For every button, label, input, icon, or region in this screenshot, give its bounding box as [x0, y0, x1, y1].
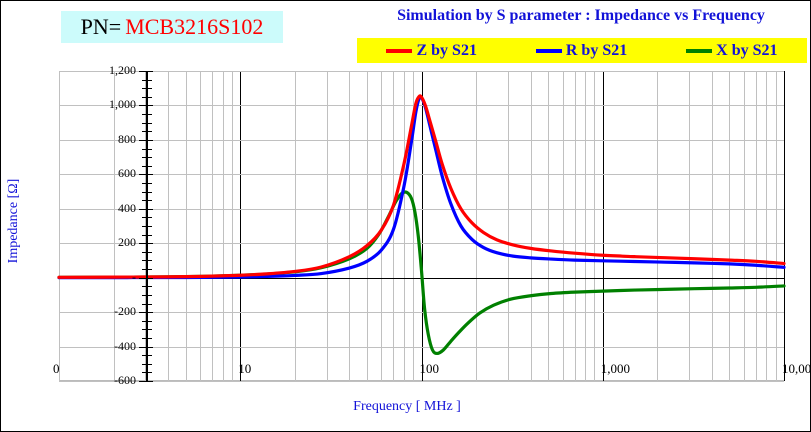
series-line-z [59, 96, 784, 277]
y-axis-title-text: Impedance [Ω] [3, 151, 25, 291]
y-tick-mark [142, 97, 152, 98]
y-tick-label: 800 [76, 132, 136, 147]
series-line-x [59, 192, 784, 354]
x-tick-label: 10 [238, 361, 251, 377]
y-tick-mark [142, 260, 152, 261]
y-tick-mark [142, 372, 152, 373]
x-tick-label: 10,000 [782, 361, 811, 377]
y-tick-mark [139, 209, 153, 210]
legend-swatch-r [536, 49, 562, 53]
y-tick-label: 400 [76, 201, 136, 216]
y-tick-mark [142, 149, 152, 150]
y-tick-label: 200 [76, 235, 136, 250]
part-number-box: PN= MCB3216S102 [61, 11, 283, 43]
y-axis-gridline [59, 381, 784, 382]
chart-legend: Z by S21 R by S21 X by S21 [357, 38, 807, 63]
y-tick-mark [142, 364, 152, 365]
y-axis-title: Impedance [Ω] [3, 151, 25, 291]
legend-label-r: R by S21 [566, 42, 627, 60]
y-tick-mark [142, 88, 152, 89]
y-tick-mark [142, 304, 152, 305]
impedance-chart-page: PN= MCB3216S102 Simulation by S paramete… [0, 0, 811, 432]
legend-item-x: X by S21 [686, 42, 777, 60]
y-tick-mark [142, 321, 152, 322]
y-tick-mark [139, 278, 153, 279]
y-tick-mark [142, 166, 152, 167]
chart-title: Simulation by S parameter : Impedance vs… [361, 7, 801, 25]
legend-item-z: Z by S21 [386, 42, 476, 60]
y-tick-mark [142, 131, 152, 132]
legend-swatch-x [686, 49, 712, 53]
plot-area [59, 71, 784, 381]
y-tick-mark [142, 252, 152, 253]
y-tick-mark [139, 71, 153, 72]
legend-swatch-z [386, 49, 412, 53]
y-tick-label: -400 [76, 339, 136, 354]
y-tick-mark [142, 123, 152, 124]
y-tick-mark [142, 329, 152, 330]
legend-label-z: Z by S21 [416, 42, 476, 60]
part-number-value: MCB3216S102 [125, 14, 263, 40]
y-tick-mark [142, 286, 152, 287]
part-number-label: PN= [81, 14, 122, 40]
y-tick-mark [142, 295, 152, 296]
y-tick-label: - [76, 270, 136, 285]
y-tick-mark [139, 347, 153, 348]
legend-label-x: X by S21 [716, 42, 777, 60]
y-tick-label: -200 [76, 304, 136, 319]
y-tick-label: -600 [76, 373, 136, 388]
y-tick-mark [142, 269, 152, 270]
y-tick-mark [142, 235, 152, 236]
y-tick-mark [139, 312, 153, 313]
y-tick-mark [142, 217, 152, 218]
y-tick-mark [142, 80, 152, 81]
y-tick-label: 1,000 [76, 97, 136, 112]
y-tick-label: 1,200 [76, 63, 136, 78]
legend-item-r: R by S21 [536, 42, 627, 60]
y-tick-mark [139, 174, 153, 175]
y-tick-mark [142, 355, 152, 356]
x-axis-major-gridline [784, 71, 785, 381]
y-tick-label: 600 [76, 166, 136, 181]
y-tick-mark [142, 114, 152, 115]
x-tick-label: 0 [53, 361, 60, 377]
y-tick-mark [142, 157, 152, 158]
y-tick-mark [142, 183, 152, 184]
y-tick-mark [142, 226, 152, 227]
y-tick-mark [139, 140, 153, 141]
y-tick-mark [139, 381, 153, 382]
curve-layer [59, 71, 784, 381]
x-axis-title: Frequency [ MHz ] [282, 399, 532, 415]
series-line-r [59, 97, 784, 278]
y-tick-mark [142, 192, 152, 193]
y-tick-mark [142, 338, 152, 339]
x-tick-label: 1,000 [601, 361, 630, 377]
y-tick-mark [139, 105, 153, 106]
x-tick-label: 100 [420, 361, 440, 377]
y-tick-mark [139, 243, 153, 244]
y-tick-mark [142, 200, 152, 201]
